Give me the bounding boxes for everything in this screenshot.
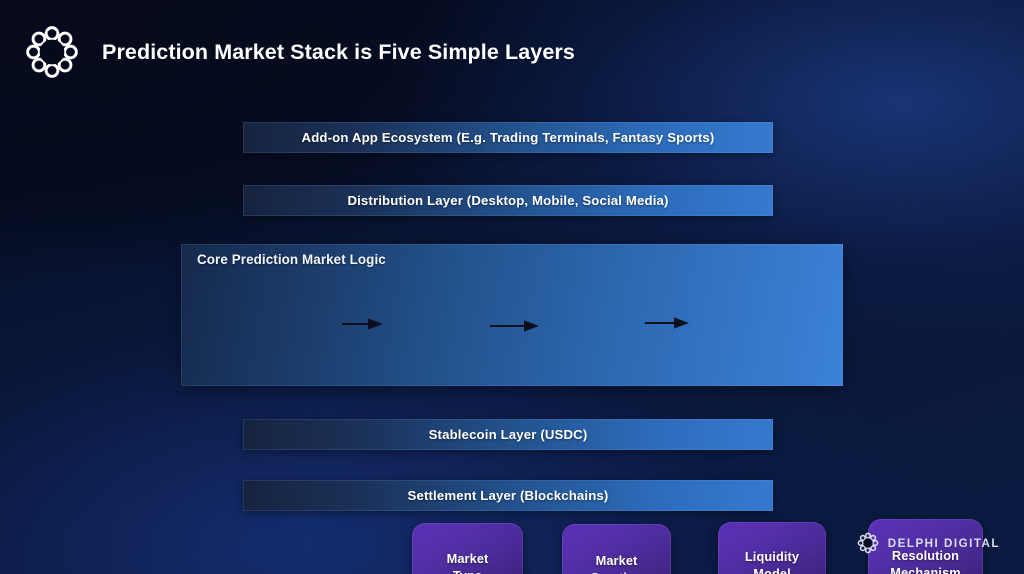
layer-label: Distribution Layer (Desktop, Mobile, Soc…	[347, 193, 668, 208]
delphi-knot-logo-icon	[24, 24, 80, 80]
footer-wordmark: DELPHI DIGITAL	[888, 537, 1000, 550]
step-box-market-type[interactable]: Market Type	[412, 523, 523, 574]
step-label: Market Creation	[590, 553, 643, 574]
layer-bar-addon-app-ecosystem[interactable]: Add-on App Ecosystem (E.g. Trading Termi…	[243, 122, 773, 153]
step-label: Liquidity Model	[745, 549, 799, 574]
page-title: Prediction Market Stack is Five Simple L…	[102, 40, 575, 65]
step-box-liquidity-model[interactable]: Liquidity Model	[718, 522, 826, 574]
layer-bar-settlement-layer[interactable]: Settlement Layer (Blockchains)	[243, 480, 773, 511]
slide-canvas: Prediction Market Stack is Five Simple L…	[0, 0, 1024, 574]
core-prediction-market-logic-panel: Core Prediction Market Logic Market Type…	[181, 244, 843, 386]
layer-label: Settlement Layer (Blockchains)	[408, 488, 609, 503]
layer-label: Stablecoin Layer (USDC)	[429, 427, 588, 442]
arrow-right-icon	[490, 319, 539, 333]
arrow-right-icon	[342, 317, 383, 331]
layer-label: Add-on App Ecosystem (E.g. Trading Termi…	[302, 130, 715, 145]
arrow-right-icon	[645, 316, 689, 330]
slide-header: Prediction Market Stack is Five Simple L…	[24, 24, 575, 80]
step-label: Market Type	[447, 551, 489, 574]
layer-bar-stablecoin-layer[interactable]: Stablecoin Layer (USDC)	[243, 419, 773, 450]
core-panel-title: Core Prediction Market Logic	[197, 252, 386, 267]
layer-bar-distribution-layer[interactable]: Distribution Layer (Desktop, Mobile, Soc…	[243, 185, 773, 216]
step-box-market-creation[interactable]: Market Creation	[562, 524, 671, 574]
footer-logo: DELPHI DIGITAL	[857, 532, 1000, 554]
delphi-knot-logo-icon	[857, 532, 879, 554]
